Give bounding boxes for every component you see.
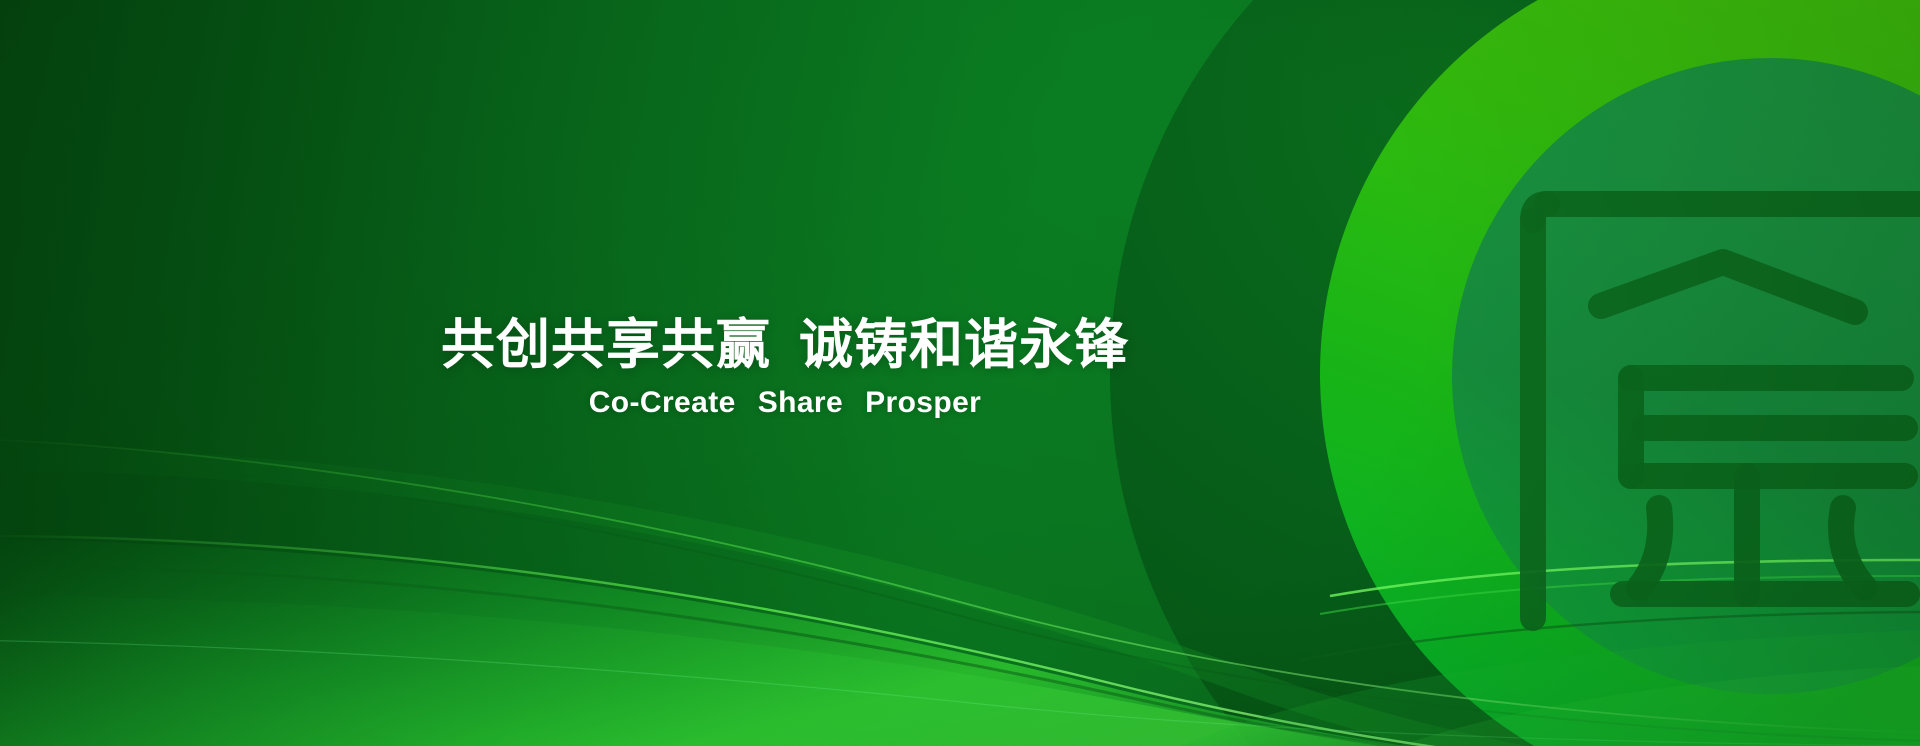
slogan-text-block: 共创共享共赢诚铸和谐永锋 Co-CreateShareProsper: [0, 318, 1570, 418]
subtitle-part-2: Share: [758, 386, 843, 419]
hero-banner: 共创共享共赢诚铸和谐永锋 Co-CreateShareProsper: [0, 0, 1920, 746]
headline-part-2: 诚铸和谐永锋: [799, 315, 1129, 375]
headline-part-1: 共创共享共赢: [441, 315, 771, 375]
page-subtitle: Co-CreateShareProsper: [0, 388, 1570, 418]
subtitle-part-3: Prosper: [865, 386, 981, 419]
page-title: 共创共享共赢诚铸和谐永锋: [0, 318, 1570, 372]
subtitle-part-1: Co-Create: [589, 386, 736, 419]
